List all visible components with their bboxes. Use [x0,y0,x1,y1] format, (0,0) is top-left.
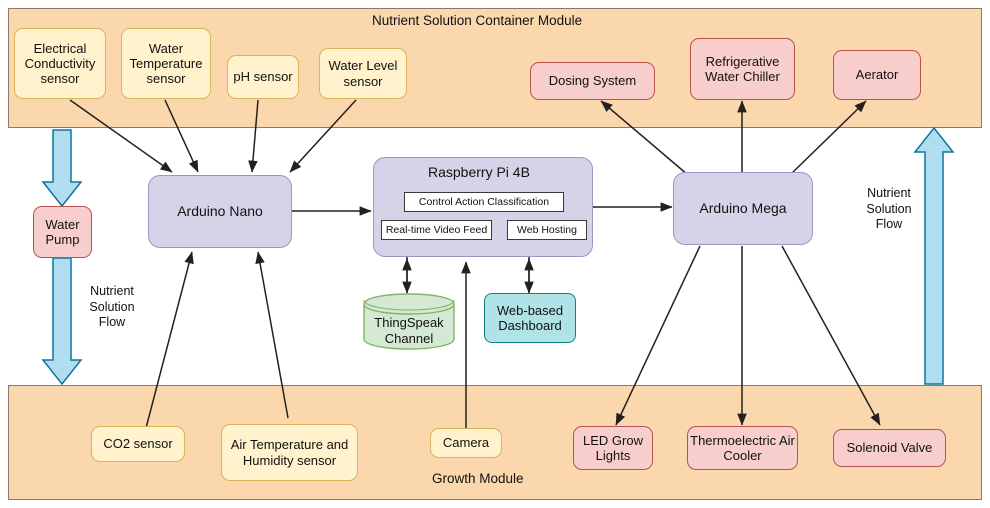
thingspeak-label-line1: ThingSpeak [363,315,455,330]
real-time-video-feed-label: Real-time Video Feed [386,224,487,236]
diagram-canvas: Nutrient Solution Container Module Growt… [0,0,990,508]
camera[interactable]: Camera [430,428,502,458]
nutrient-flow-arrow-up [915,128,953,384]
refrigerative-water-chiller-label: Refrigerative Water Chiller [691,54,794,84]
led-grow-lights-label: LED Grow Lights [574,433,652,463]
dosing-system[interactable]: Dosing System [530,62,655,100]
flow-down-line1: Nutrient [75,284,149,300]
real-time-video-feed[interactable]: Real-time Video Feed [381,220,492,240]
flow-down-line2: Solution [75,300,149,316]
arduino-nano-label: Arduino Nano [177,203,263,219]
water-pump-label: Water Pump [34,217,91,247]
co2-sensor[interactable]: CO2 sensor [91,426,185,462]
flow-up-line2: Solution [852,202,926,218]
nutrient-flow-arrow-down-upper [43,130,81,206]
web-dashboard-label-line2: Dashboard [498,318,562,333]
aerator[interactable]: Aerator [833,50,921,100]
web-hosting-label: Web Hosting [517,224,577,236]
flow-up-line1: Nutrient [852,186,926,202]
led-grow-lights[interactable]: LED Grow Lights [573,426,653,470]
control-action-classification-label: Control Action Classification [419,196,549,208]
water-temperature-sensor[interactable]: Water Temperature sensor [121,28,211,99]
flow-down-line3: Flow [75,315,149,331]
camera-label: Camera [443,435,489,450]
raspberry-pi-title: Raspberry Pi 4B [428,164,530,180]
web-based-dashboard[interactable]: Web-based Dashboard [484,293,576,343]
co2-sensor-label: CO2 sensor [103,436,172,451]
aerator-label: Aerator [856,67,899,82]
ec-sensor[interactable]: Electrical Conductivity sensor [14,28,106,99]
arduino-mega-label: Arduino Mega [699,200,786,216]
ec-sensor-label: Electrical Conductivity sensor [15,41,105,86]
water-temperature-sensor-label: Water Temperature sensor [122,41,210,86]
air-temp-humidity-sensor-label: Air Temperature and Humidity sensor [222,437,357,467]
thingspeak-label-line2: Channel [363,331,455,346]
dosing-system-label: Dosing System [549,73,636,88]
refrigerative-water-chiller[interactable]: Refrigerative Water Chiller [690,38,795,100]
solenoid-valve-label: Solenoid Valve [847,440,933,455]
thingspeak-channel[interactable]: ThingSpeak Channel [363,293,455,350]
web-hosting[interactable]: Web Hosting [507,220,587,240]
thermoelectric-air-cooler-label: Thermoelectric Air Cooler [688,433,797,463]
water-pump[interactable]: Water Pump [33,206,92,258]
nutrient-flow-label-down: Nutrient Solution Flow [75,284,149,331]
thermoelectric-air-cooler[interactable]: Thermoelectric Air Cooler [687,426,798,470]
air-temp-humidity-sensor[interactable]: Air Temperature and Humidity sensor [221,424,358,481]
ph-sensor-label: pH sensor [233,69,292,84]
solenoid-valve[interactable]: Solenoid Valve [833,429,946,467]
water-level-sensor-label: Water Level sensor [320,58,406,88]
control-action-classification[interactable]: Control Action Classification [404,192,564,212]
ph-sensor[interactable]: pH sensor [227,55,299,99]
nutrient-flow-label-up: Nutrient Solution Flow [852,186,926,233]
flow-up-line3: Flow [852,217,926,233]
web-dashboard-label-line1: Web-based [497,303,563,318]
arduino-nano[interactable]: Arduino Nano [148,175,292,248]
water-level-sensor[interactable]: Water Level sensor [319,48,407,99]
arduino-mega[interactable]: Arduino Mega [673,172,813,245]
